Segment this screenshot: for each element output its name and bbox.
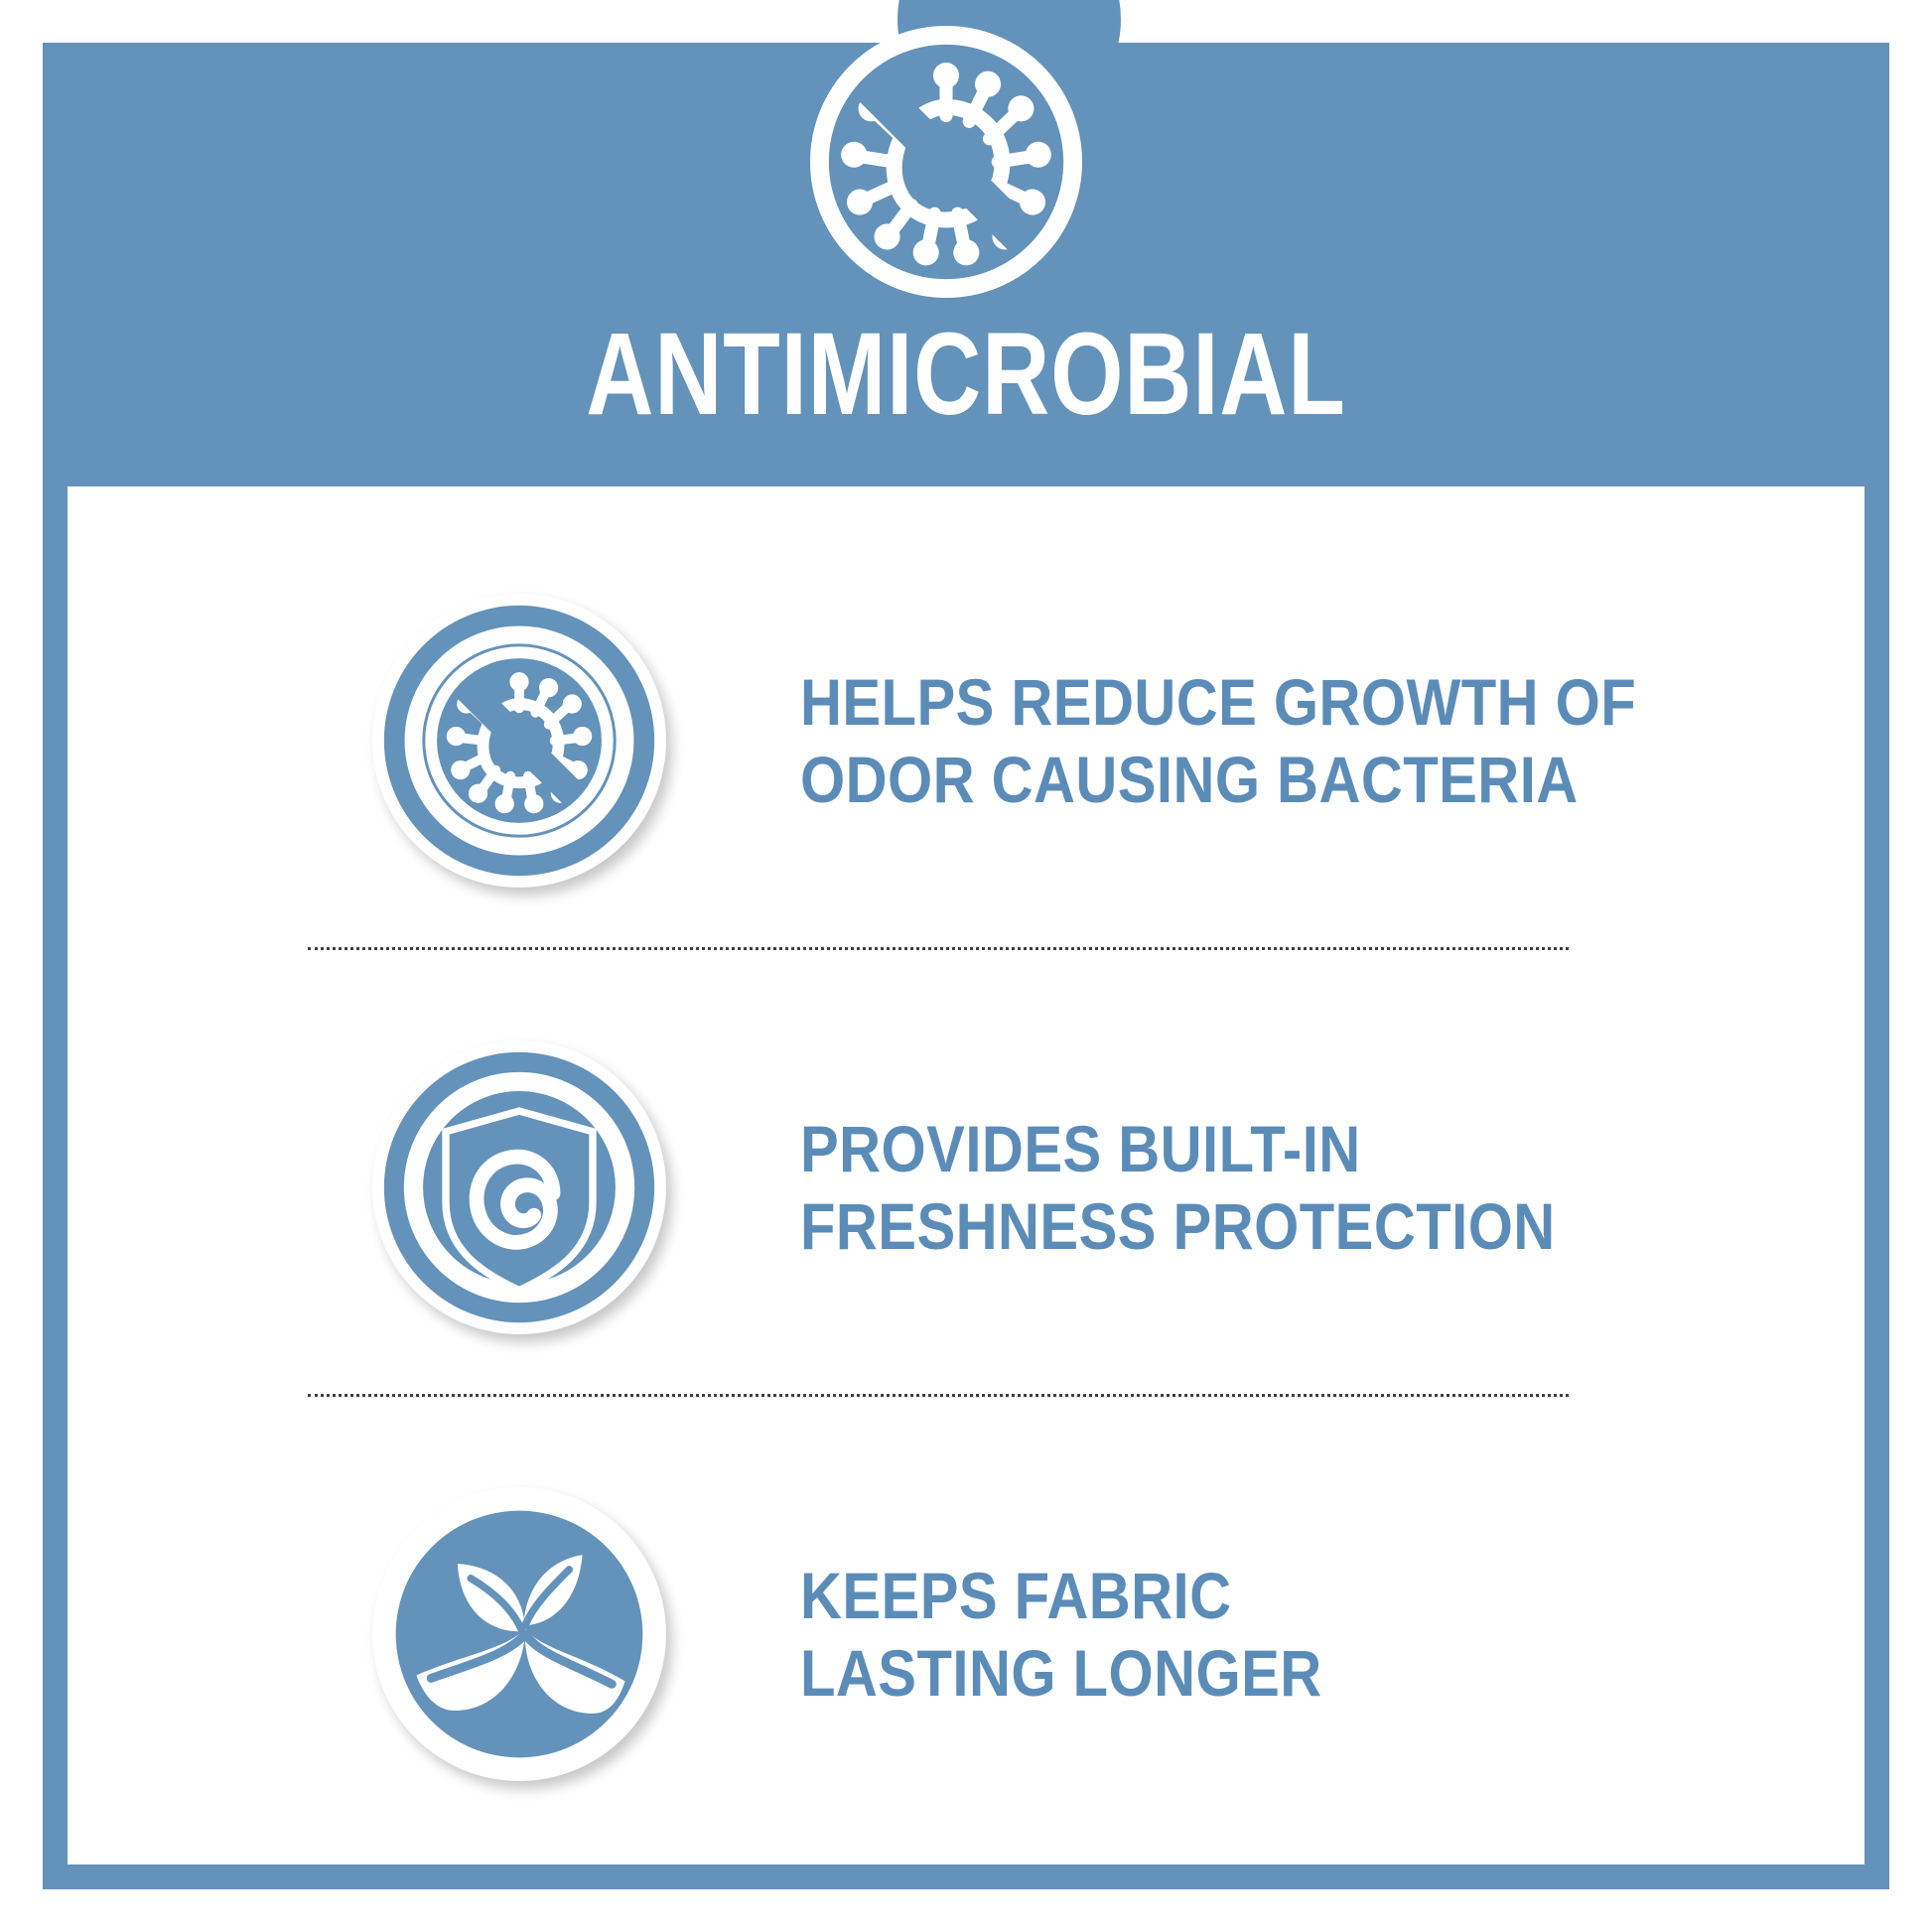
feature-line-1: KEEPS FABRIC <box>800 1557 1322 1634</box>
feature-line-1: HELPS REDUCE GROWTH OF <box>800 663 1636 741</box>
feature-text: HELPS REDUCE GROWTH OF ODOR CAUSING BACT… <box>800 663 1636 818</box>
row-divider <box>308 947 1569 950</box>
row-divider <box>308 1394 1569 1397</box>
no-germs-icon <box>802 18 1090 306</box>
feature-line-1: PROVIDES BUILT-IN <box>800 1110 1556 1187</box>
feature-line-2: FRESHNESS PROTECTION <box>800 1187 1556 1265</box>
feature-row: KEEPS FABRIC LASTING LONGER <box>68 1465 1864 1803</box>
leaves-fabric-icon <box>372 1487 666 1781</box>
page-title: ANTIMICROBIAL <box>227 316 1705 433</box>
header-band: ANTIMICROBIAL <box>43 0 1889 486</box>
feature-text: PROVIDES BUILT-IN FRESHNESS PROTECTION <box>800 1110 1556 1265</box>
shield-freshness-icon <box>372 1040 666 1334</box>
feature-text: KEEPS FABRIC LASTING LONGER <box>800 1557 1322 1712</box>
no-germs-circle-icon <box>372 594 666 888</box>
feature-row: PROVIDES BUILT-IN FRESHNESS PROTECTION <box>68 1019 1864 1356</box>
feature-line-2: LASTING LONGER <box>800 1634 1322 1712</box>
antimicrobial-infographic: ANTIMICROBIAL <box>0 0 1932 1932</box>
feature-list: HELPS REDUCE GROWTH OF ODOR CAUSING BACT… <box>68 486 1864 1864</box>
feature-row: HELPS REDUCE GROWTH OF ODOR CAUSING BACT… <box>68 572 1864 909</box>
feature-line-2: ODOR CAUSING BACTERIA <box>800 741 1636 818</box>
